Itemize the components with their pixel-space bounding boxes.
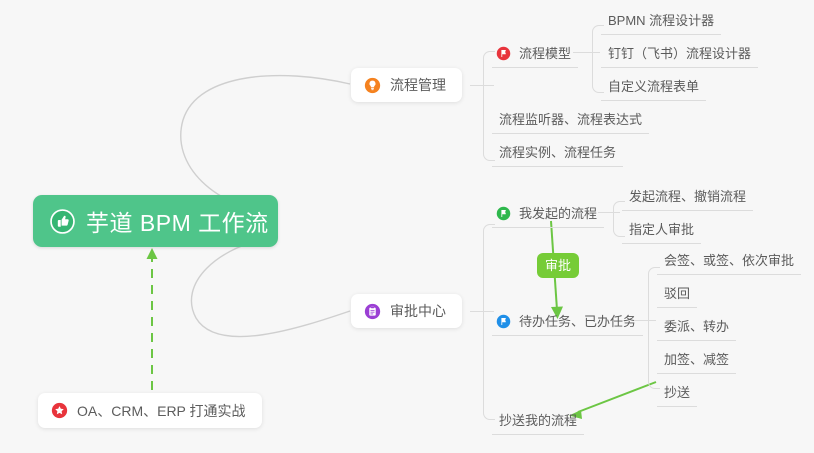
leaf-add-remove-sign[interactable]: 加签、减签 bbox=[657, 350, 736, 374]
lightbulb-icon bbox=[364, 77, 381, 94]
thumbs-up-icon bbox=[50, 209, 75, 234]
leaf-todo-done-tasks[interactable]: 待办任务、已办任务 bbox=[492, 312, 643, 336]
approval-annotation-badge: 审批 bbox=[537, 253, 579, 278]
branch-process-management-label: 流程管理 bbox=[390, 75, 446, 95]
leaf-assigned-approval[interactable]: 指定人审批 bbox=[622, 220, 701, 244]
bottom-note-card[interactable]: OA、CRM、ERP 打通实战 bbox=[38, 393, 262, 428]
star-icon bbox=[51, 402, 68, 419]
arrow-bottom-note-to-root bbox=[147, 248, 158, 390]
curve-root-to-approval-center bbox=[191, 236, 350, 337]
root-label: 芋道 BPM 工作流 bbox=[86, 204, 269, 238]
flag-icon bbox=[496, 314, 511, 329]
flag-icon bbox=[496, 46, 511, 61]
branch-approval-center[interactable]: 审批中心 bbox=[351, 294, 462, 328]
leaf-my-initiated-process-label: 我发起的流程 bbox=[519, 204, 597, 223]
mindmap-canvas: 芋道 BPM 工作流 OA、CRM、ERP 打通实战 流程管理 bbox=[0, 0, 814, 453]
branch-process-management[interactable]: 流程管理 bbox=[351, 68, 462, 102]
root-node[interactable]: 芋道 BPM 工作流 bbox=[33, 195, 278, 247]
branch-approval-center-label: 审批中心 bbox=[390, 301, 446, 321]
bottom-note-label: OA、CRM、ERP 打通实战 bbox=[77, 401, 246, 421]
leaf-todo-done-tasks-label: 待办任务、已办任务 bbox=[519, 312, 636, 331]
leaf-dingtalk-designer[interactable]: 钉钉（飞书）流程设计器 bbox=[601, 44, 758, 68]
leaf-process-listener[interactable]: 流程监听器、流程表达式 bbox=[492, 110, 649, 134]
leaf-process-model[interactable]: 流程模型 bbox=[492, 44, 578, 68]
leaf-custom-form[interactable]: 自定义流程表单 bbox=[601, 77, 706, 101]
clipboard-icon bbox=[364, 303, 381, 320]
leaf-start-cancel-process[interactable]: 发起流程、撤销流程 bbox=[622, 187, 753, 211]
flag-icon bbox=[496, 206, 511, 221]
leaf-cc[interactable]: 抄送 bbox=[657, 383, 697, 407]
leaf-cc-my-process[interactable]: 抄送我的流程 bbox=[492, 411, 584, 435]
leaf-process-model-label: 流程模型 bbox=[519, 44, 571, 63]
leaf-bpmn-designer[interactable]: BPMN 流程设计器 bbox=[601, 11, 721, 35]
leaf-my-initiated-process[interactable]: 我发起的流程 bbox=[492, 204, 604, 228]
leaf-countersign[interactable]: 会签、或签、依次审批 bbox=[657, 251, 801, 275]
leaf-reject[interactable]: 驳回 bbox=[657, 284, 697, 308]
leaf-delegate-transfer[interactable]: 委派、转办 bbox=[657, 317, 736, 341]
leaf-process-instance[interactable]: 流程实例、流程任务 bbox=[492, 143, 623, 167]
curve-root-to-process-management bbox=[181, 76, 350, 214]
